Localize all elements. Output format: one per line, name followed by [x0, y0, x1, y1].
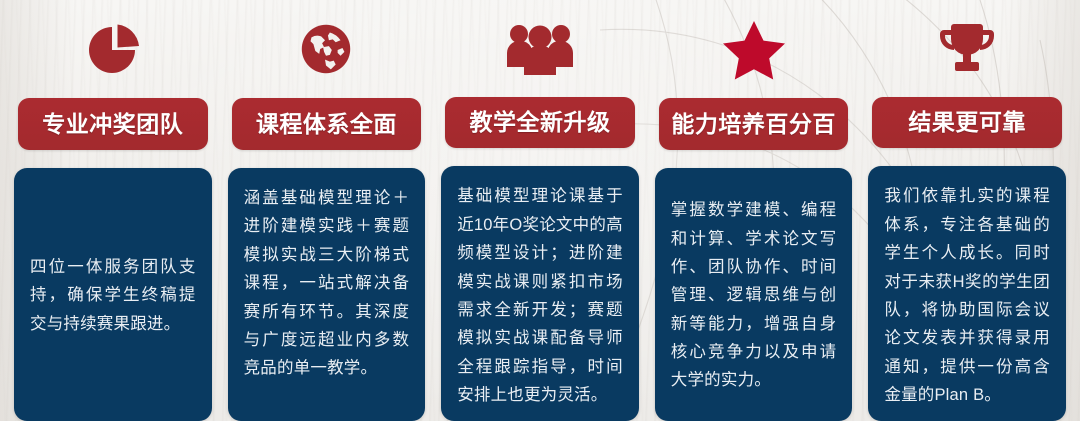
feature-card-4: 掌握数学建模、编程和计算、学术论文写作、团队协作、时间管理、逻辑思维与创新等能力…	[655, 168, 853, 421]
feature-card-1: 四位一体服务团队支持，确保学生终稿提交与持续赛果跟进。	[14, 168, 212, 421]
globe-icon	[228, 0, 426, 98]
feature-body-2: 涵盖基础模型理论＋进阶建模实践＋赛题模拟实战三大阶梯式课程，一站式解决备赛所有环…	[244, 184, 410, 383]
feature-card-5: 我们依靠扎实的课程体系，专注各基础的学生个人成长。同时对于未获H奖的学生团队，将…	[868, 166, 1066, 421]
feature-title-1: 专业冲奖团队	[42, 113, 183, 136]
trophy-icon	[868, 0, 1066, 97]
feature-card-3: 基础模型理论课基于近10年O奖论文中的高频模型设计；进阶建模实战课则紧扣市场需求…	[441, 166, 639, 421]
feature-title-badge-2[interactable]: 课程体系全面	[232, 98, 422, 150]
feature-body-1: 四位一体服务团队支持，确保学生终稿提交与持续赛果跟进。	[30, 253, 196, 338]
feature-title-3: 教学全新升级	[469, 111, 610, 134]
feature-column-2: 课程体系全面 涵盖基础模型理论＋进阶建模实践＋赛题模拟实战三大阶梯式课程，一站式…	[228, 0, 426, 421]
feature-title-5: 结果更可靠	[908, 111, 1026, 134]
feature-body-3: 基础模型理论课基于近10年O奖论文中的高频模型设计；进阶建模实战课则紧扣市场需求…	[457, 182, 623, 409]
feature-column-5: 结果更可靠 我们依靠扎实的课程体系，专注各基础的学生个人成长。同时对于未获H奖的…	[868, 0, 1066, 421]
feature-columns: 专业冲奖团队 四位一体服务团队支持，确保学生终稿提交与持续赛果跟进。 课程体系全…	[0, 0, 1080, 421]
feature-card-2: 涵盖基础模型理论＋进阶建模实践＋赛题模拟实战三大阶梯式课程，一站式解决备赛所有环…	[228, 168, 426, 421]
feature-column-4: 能力培养百分百 掌握数学建模、编程和计算、学术论文写作、团队协作、时间管理、逻辑…	[655, 0, 853, 421]
feature-body-4: 掌握数学建模、编程和计算、学术论文写作、团队协作、时间管理、逻辑思维与创新等能力…	[671, 196, 837, 395]
feature-title-4: 能力培养百分百	[671, 113, 836, 136]
feature-title-badge-4[interactable]: 能力培养百分百	[659, 98, 849, 150]
feature-title-badge-3[interactable]: 教学全新升级	[445, 97, 635, 148]
feature-body-5: 我们依靠扎实的课程体系，专注各基础的学生个人成长。同时对于未获H奖的学生团队，将…	[884, 182, 1050, 409]
feature-title-badge-5[interactable]: 结果更可靠	[872, 97, 1062, 148]
pie-chart-icon	[14, 0, 212, 98]
feature-title-badge-1[interactable]: 专业冲奖团队	[18, 98, 208, 150]
feature-column-1: 专业冲奖团队 四位一体服务团队支持，确保学生终稿提交与持续赛果跟进。	[14, 0, 212, 421]
people-group-icon	[441, 0, 639, 97]
feature-column-3: 教学全新升级 基础模型理论课基于近10年O奖论文中的高频模型设计；进阶建模实战课…	[441, 0, 639, 421]
feature-title-2: 课程体系全面	[256, 113, 397, 136]
star-icon	[655, 0, 853, 98]
